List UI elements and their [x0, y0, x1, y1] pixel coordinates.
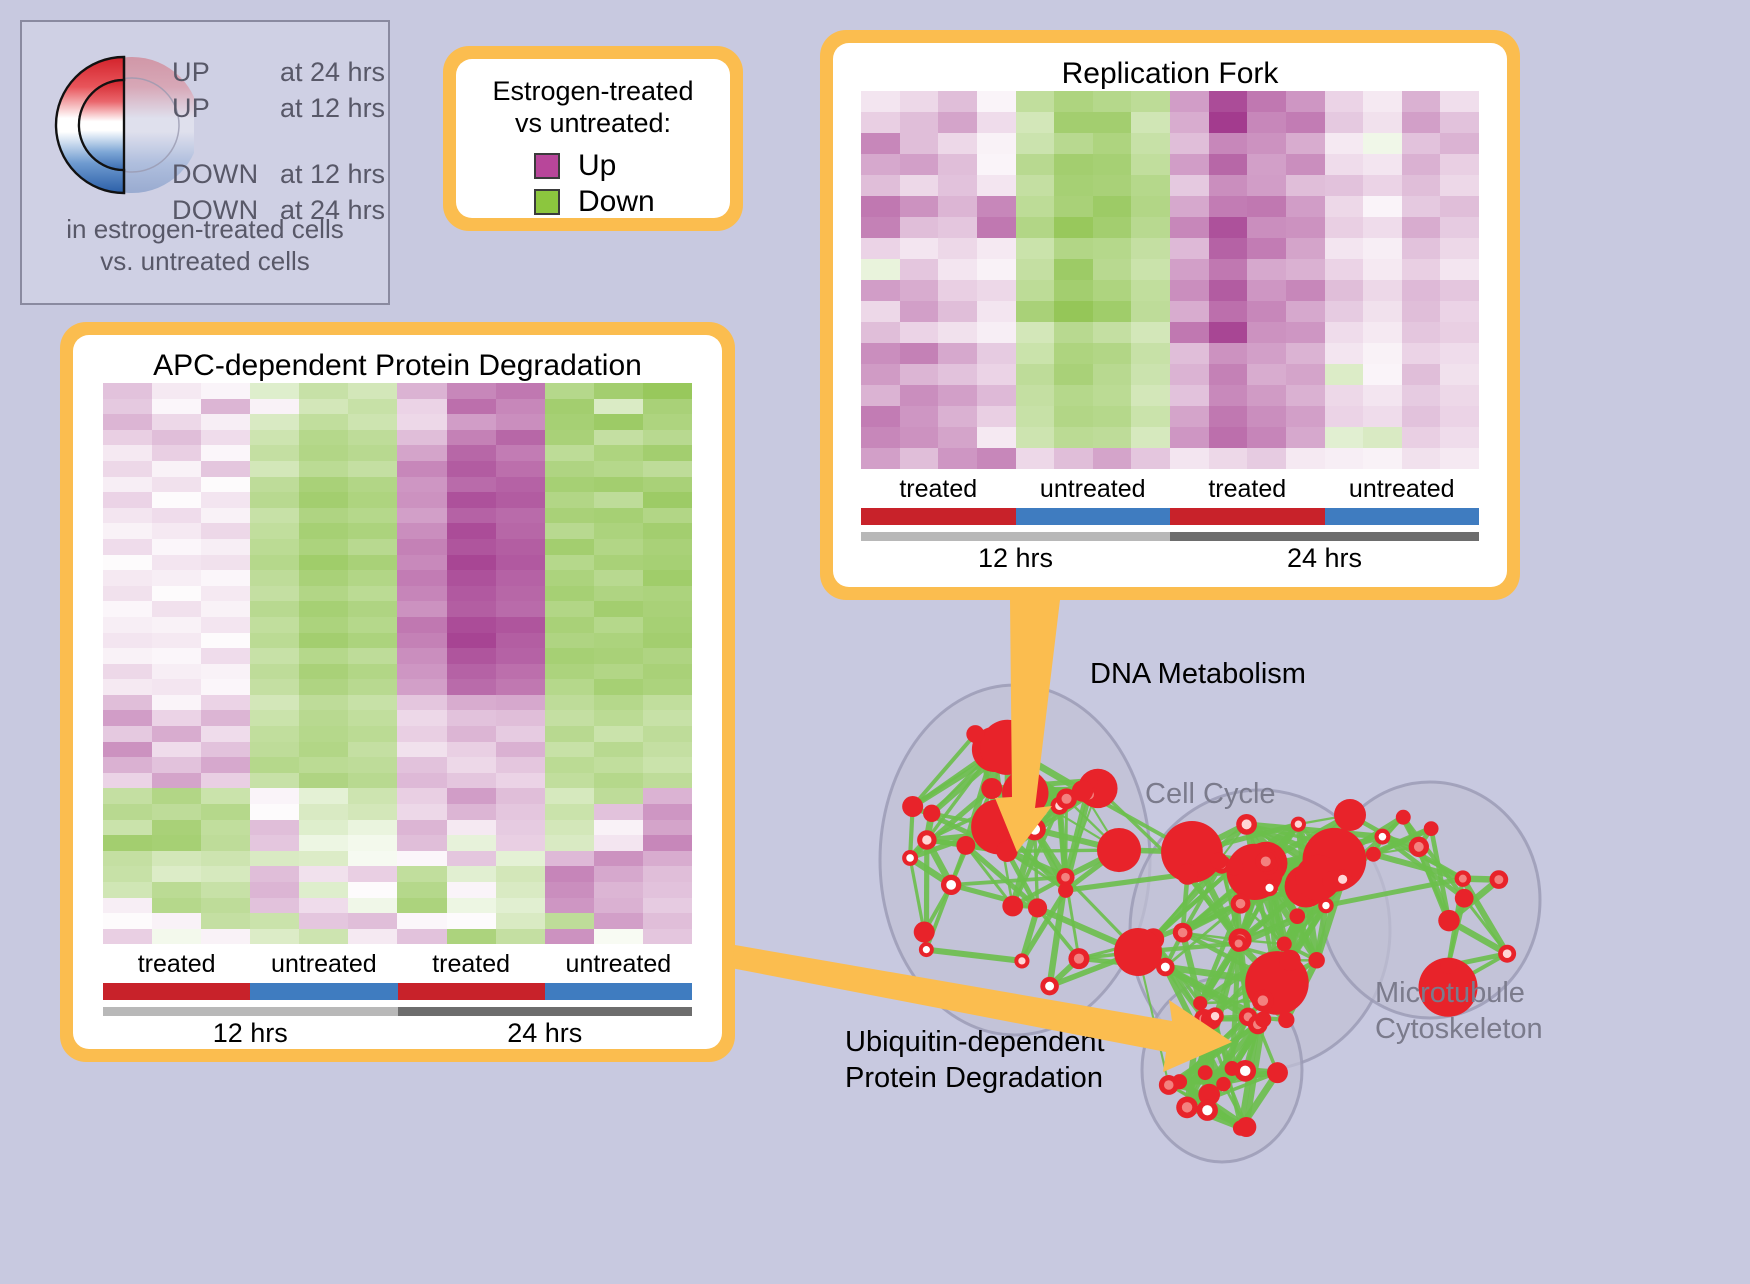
heatmap-cell	[1093, 406, 1132, 427]
heatmap-cell	[250, 726, 299, 742]
network-node-core	[1242, 819, 1252, 829]
heatmap-cell	[201, 586, 250, 602]
heatmap-cell	[545, 866, 594, 882]
apc-heatmap	[103, 383, 692, 944]
heatmap-cell	[1170, 238, 1209, 259]
heatmap-cell	[201, 664, 250, 680]
heatmap-cell	[1170, 196, 1209, 217]
heatmap-cell	[938, 238, 977, 259]
heatmap-cell	[1054, 217, 1093, 238]
network-node[interactable]	[1396, 810, 1411, 825]
heatmap-cell	[1363, 427, 1402, 448]
network-node-core	[1322, 902, 1329, 909]
network-node[interactable]	[923, 805, 940, 822]
network-node[interactable]	[1058, 883, 1073, 898]
heatmap-cell	[201, 414, 250, 430]
heatmap-cell	[496, 617, 545, 633]
network-node[interactable]	[996, 841, 1017, 862]
heatmap-cell	[643, 477, 692, 493]
network-node[interactable]	[1424, 821, 1439, 836]
heatmap-cell	[1440, 196, 1479, 217]
heatmap-row	[103, 773, 692, 789]
heatmap-cell	[1170, 175, 1209, 196]
heatmap-cell	[447, 539, 496, 555]
heatmap-cell	[103, 383, 152, 399]
heatmap-cell	[938, 259, 977, 280]
heatmap-cell	[1016, 301, 1055, 322]
heatmap-cell	[1286, 217, 1325, 238]
heatmap-cell	[1209, 364, 1248, 385]
heatmap-cell	[1286, 259, 1325, 280]
heatmap-row	[861, 91, 1479, 112]
network-node-core	[1240, 1066, 1250, 1076]
network-node[interactable]	[1002, 896, 1023, 917]
heatmap-row	[103, 851, 692, 867]
legend-row-up-24: UP at 24 hrs	[172, 54, 387, 90]
heatmap-cell	[1286, 385, 1325, 406]
network-node[interactable]	[914, 922, 935, 943]
heatmap-cell	[861, 238, 900, 259]
heatmap-cell	[938, 448, 977, 469]
heatmap-cell	[1402, 385, 1441, 406]
heatmap-cell	[977, 343, 1016, 364]
heatmap-cell	[447, 492, 496, 508]
heatmap-cell	[1440, 91, 1479, 112]
heatmap-cell	[250, 477, 299, 493]
heatmap-cell	[1209, 448, 1248, 469]
heatmap-cell	[496, 414, 545, 430]
heatmap-cell	[496, 882, 545, 898]
heatmap-cell	[977, 196, 1016, 217]
heatmap-cell	[250, 851, 299, 867]
heatmap-cell	[977, 406, 1016, 427]
network-node[interactable]	[1438, 910, 1460, 932]
heatmap-row	[861, 217, 1479, 238]
heatmap-cell	[103, 882, 152, 898]
network-node[interactable]	[1366, 847, 1381, 862]
heatmap-row	[861, 154, 1479, 175]
heatmap-cell	[201, 570, 250, 586]
network-node[interactable]	[1072, 780, 1093, 801]
heatmap-cell	[977, 133, 1016, 154]
heatmap-cell	[496, 555, 545, 571]
heatmap-cell	[1363, 448, 1402, 469]
heatmap-cell	[1131, 91, 1170, 112]
heatmap-cell	[250, 539, 299, 555]
network-node-core	[1266, 884, 1274, 892]
heatmap-cell	[348, 773, 397, 789]
heatmap-cell	[1170, 427, 1209, 448]
heatmap-cell	[447, 601, 496, 617]
network-node[interactable]	[1177, 864, 1198, 885]
heatmap-cell	[1247, 133, 1286, 154]
heatmap-cell	[1325, 385, 1364, 406]
heatmap-cell	[447, 866, 496, 882]
network-node[interactable]	[966, 725, 984, 743]
network-node[interactable]	[1193, 996, 1207, 1010]
heatmap-cell	[1131, 448, 1170, 469]
heatmap-cell	[348, 383, 397, 399]
heatmap-cell	[103, 804, 152, 820]
heatmap-cell	[594, 570, 643, 586]
time-label: 24 hrs	[1170, 543, 1479, 574]
heatmap-cell	[545, 648, 594, 664]
heatmap-cell	[299, 726, 348, 742]
heatmap-cell	[250, 866, 299, 882]
network-node[interactable]	[1455, 889, 1474, 908]
heatmap-cell	[348, 898, 397, 914]
heatmap-cell	[1093, 343, 1132, 364]
heatmap-cell	[1325, 280, 1364, 301]
heatmap-row	[103, 586, 692, 602]
heatmap-cell	[545, 835, 594, 851]
heatmap-cell	[152, 773, 201, 789]
network-node-core	[1261, 856, 1271, 866]
bar-untreated	[1016, 508, 1171, 525]
heatmap-cell	[1170, 364, 1209, 385]
heatmap-cell	[594, 445, 643, 461]
network-node-core	[1182, 1102, 1192, 1112]
heatmap-row	[861, 343, 1479, 364]
heatmap-cell	[299, 539, 348, 555]
heatmap-row	[861, 280, 1479, 301]
network-node[interactable]	[902, 796, 923, 817]
heatmap-cell	[250, 586, 299, 602]
heatmap-row	[861, 301, 1479, 322]
apc-annotations: treated untreated treated untreated	[103, 950, 692, 1049]
heatmap-cell	[250, 648, 299, 664]
heatmap-cell	[1247, 259, 1286, 280]
heatmap-cell	[397, 710, 446, 726]
heatmap-cell	[496, 570, 545, 586]
heatmap-cell	[348, 820, 397, 836]
heatmap-cell	[348, 617, 397, 633]
heatmap-cell	[1016, 385, 1055, 406]
network-node-core	[1029, 824, 1040, 835]
heatmap-cell	[1170, 217, 1209, 238]
heatmap-cell	[545, 929, 594, 945]
heatmap-cell	[1440, 154, 1479, 175]
heatmap-cell	[545, 414, 594, 430]
heatmap-cell	[1170, 406, 1209, 427]
heatmap-cell	[594, 477, 643, 493]
heatmap-cell	[594, 539, 643, 555]
heatmap-cell	[1325, 448, 1364, 469]
heatmap-cell	[545, 633, 594, 649]
heatmap-cell	[594, 913, 643, 929]
heatmap-cell	[643, 757, 692, 773]
heatmap-cell	[861, 427, 900, 448]
heatmap-cell	[977, 364, 1016, 385]
heatmap-cell	[152, 617, 201, 633]
heatmap-cell	[348, 710, 397, 726]
heatmap-cell	[1131, 196, 1170, 217]
heatmap-cell	[348, 555, 397, 571]
network-node[interactable]	[1308, 952, 1325, 969]
heatmap-cell	[299, 430, 348, 446]
heatmap-row	[103, 601, 692, 617]
heatmap-cell	[1440, 280, 1479, 301]
bar-treated	[1170, 508, 1325, 525]
heatmap-cell	[152, 523, 201, 539]
heatmap-cell	[250, 773, 299, 789]
heatmap-row	[861, 112, 1479, 133]
heatmap-row	[103, 866, 692, 882]
heatmap-cell	[643, 710, 692, 726]
heatmap-cell	[1016, 406, 1055, 427]
heatmap-cell	[545, 508, 594, 524]
heatmap-cell	[545, 617, 594, 633]
heatmap-cell	[1209, 175, 1248, 196]
network-node[interactable]	[1440, 958, 1456, 974]
heatmap-cell	[348, 742, 397, 758]
heatmap-cell	[594, 617, 643, 633]
heatmap-cell	[496, 788, 545, 804]
heatmap-cell	[1016, 322, 1055, 343]
heatmap-cell	[1093, 154, 1132, 175]
network-node[interactable]	[981, 778, 1002, 799]
colorwheel-legend-rows: UP at 24 hrs UP at 12 hrs DOWN at 12 hrs…	[172, 54, 387, 228]
heatmap-cell	[299, 586, 348, 602]
heatmap-cell	[643, 383, 692, 399]
heatmap-row	[103, 539, 692, 555]
heatmap-cell	[545, 555, 594, 571]
heatmap-cell	[1325, 259, 1364, 280]
apc-panel-title: APC-dependent Protein Degradation	[73, 335, 722, 383]
heatmap-cell	[594, 742, 643, 758]
heatmap-cell	[643, 664, 692, 680]
heatmap-cell	[1054, 427, 1093, 448]
heatmap-cell	[397, 508, 446, 524]
heatmap-row	[103, 617, 692, 633]
network-node[interactable]	[980, 720, 1035, 775]
legend-item-up: Up	[534, 148, 730, 184]
heatmap-cell	[594, 383, 643, 399]
network-node[interactable]	[1236, 1117, 1256, 1137]
heatmap-cell	[397, 601, 446, 617]
heatmap-cell	[397, 929, 446, 945]
heatmap-cell	[447, 383, 496, 399]
heatmap-cell	[643, 586, 692, 602]
heatmap-cell	[545, 445, 594, 461]
heatmap-cell	[447, 679, 496, 695]
heatmap-cell	[1131, 427, 1170, 448]
heatmap-cell	[643, 648, 692, 664]
heatmap-cell	[397, 383, 446, 399]
heatmap-cell	[1131, 406, 1170, 427]
updown-legend-panel: Estrogen-treated vs untreated: Up Down	[443, 46, 743, 231]
heatmap-cell	[643, 882, 692, 898]
heatmap-cell	[103, 461, 152, 477]
heatmap-cell	[397, 445, 446, 461]
heatmap-cell	[397, 726, 446, 742]
heatmap-cell	[545, 710, 594, 726]
heatmap-cell	[103, 757, 152, 773]
heatmap-cell	[496, 913, 545, 929]
network-node[interactable]	[1278, 1012, 1294, 1028]
heatmap-cell	[900, 364, 939, 385]
heatmap-cell	[103, 866, 152, 882]
heatmap-cell	[397, 399, 446, 415]
heatmap-cell	[152, 710, 201, 726]
heatmap-row	[103, 492, 692, 508]
heatmap-cell	[201, 508, 250, 524]
heatmap-cell	[643, 929, 692, 945]
legend-row-up-12: UP at 12 hrs	[172, 90, 387, 126]
heatmap-cell	[938, 343, 977, 364]
heatmap-cell	[643, 788, 692, 804]
heatmap-row	[103, 695, 692, 711]
heatmap-cell	[397, 570, 446, 586]
heatmap-cell	[201, 866, 250, 882]
heatmap-cell	[1402, 280, 1441, 301]
heatmap-cell	[1016, 91, 1055, 112]
heatmap-cell	[152, 929, 201, 945]
heatmap-cell	[103, 508, 152, 524]
heatmap-cell	[250, 742, 299, 758]
heatmap-cell	[447, 617, 496, 633]
cluster-label-microtubule-cytoskeleton: Microtubule Cytoskeleton	[1375, 975, 1543, 1048]
heatmap-cell	[1016, 427, 1055, 448]
heatmap-row	[103, 508, 692, 524]
heatmap-cell	[594, 430, 643, 446]
caption-line-2: vs. untreated cells	[22, 246, 388, 278]
network-node[interactable]	[1028, 898, 1047, 917]
bar-12hrs	[861, 532, 1170, 541]
heatmap-cell	[1054, 448, 1093, 469]
heatmap-cell	[938, 427, 977, 448]
network-node-core	[906, 854, 914, 862]
heatmap-cell	[397, 648, 446, 664]
network-node[interactable]	[1279, 950, 1300, 971]
bar-treated	[103, 983, 250, 1000]
heatmap-cell	[643, 851, 692, 867]
heatmap-cell	[861, 301, 900, 322]
heatmap-cell	[1363, 385, 1402, 406]
heatmap-cell	[1209, 280, 1248, 301]
heatmap-cell	[1325, 133, 1364, 154]
heatmap-row	[103, 399, 692, 415]
heatmap-cell	[348, 695, 397, 711]
heatmap-cell	[103, 664, 152, 680]
heatmap-cell	[594, 882, 643, 898]
heatmap-cell	[1247, 385, 1286, 406]
heatmap-cell	[103, 492, 152, 508]
heatmap-cell	[1054, 280, 1093, 301]
heatmap-cell	[103, 399, 152, 415]
heatmap-cell	[643, 555, 692, 571]
network-node[interactable]	[1255, 1011, 1271, 1027]
heatmap-cell	[1363, 280, 1402, 301]
heatmap-cell	[1247, 343, 1286, 364]
network-node[interactable]	[1097, 828, 1141, 872]
heatmap-row	[103, 633, 692, 649]
heatmap-cell	[1402, 112, 1441, 133]
heatmap-cell	[250, 679, 299, 695]
heatmap-cell	[496, 586, 545, 602]
heatmap-cell	[643, 773, 692, 789]
network-node[interactable]	[956, 836, 975, 855]
heatmap-cell	[1286, 406, 1325, 427]
heatmap-cell	[447, 929, 496, 945]
heatmap-cell	[938, 154, 977, 175]
legend-label-down: Down	[578, 187, 655, 217]
network-node[interactable]	[1198, 1065, 1213, 1080]
heatmap-cell	[1054, 91, 1093, 112]
heatmap-cell	[643, 430, 692, 446]
heatmap-cell	[348, 508, 397, 524]
network-node[interactable]	[1114, 928, 1162, 976]
heatmap-cell	[1209, 238, 1248, 259]
heatmap-cell	[1247, 112, 1286, 133]
heatmap-cell	[496, 633, 545, 649]
heatmap-cell	[1054, 238, 1093, 259]
heatmap-cell	[1016, 112, 1055, 133]
heatmap-cell	[103, 445, 152, 461]
heatmap-cell	[299, 757, 348, 773]
network-node[interactable]	[1211, 852, 1228, 869]
heatmap-cell	[397, 804, 446, 820]
network-node[interactable]	[1226, 858, 1243, 875]
heatmap-row	[861, 322, 1479, 343]
heatmap-cell	[594, 851, 643, 867]
heatmap-cell	[201, 648, 250, 664]
heatmap-cell	[1093, 301, 1132, 322]
heatmap-cell	[900, 217, 939, 238]
heatmap-cell	[545, 882, 594, 898]
network-node-core	[922, 835, 931, 844]
group-label: treated	[398, 950, 545, 979]
heatmap-cell	[900, 343, 939, 364]
network-node[interactable]	[1289, 908, 1305, 924]
heatmap-cell	[545, 430, 594, 446]
heatmap-cell	[299, 617, 348, 633]
heatmap-cell	[594, 586, 643, 602]
heatmap-cell	[397, 461, 446, 477]
heatmap-cell	[1093, 238, 1132, 259]
heatmap-cell	[900, 385, 939, 406]
heatmap-cell	[594, 695, 643, 711]
network-node[interactable]	[1267, 1062, 1288, 1083]
heatmap-cell	[1209, 406, 1248, 427]
heatmap-cell	[201, 757, 250, 773]
heatmap-cell	[103, 898, 152, 914]
heatmap-cell	[201, 804, 250, 820]
heatmap-cell	[447, 633, 496, 649]
heatmap-cell	[1016, 217, 1055, 238]
legend-label-up: Up	[578, 151, 616, 181]
heatmap-cell	[250, 601, 299, 617]
heatmap-cell	[397, 742, 446, 758]
heatmap-cell	[299, 820, 348, 836]
heatmap-row	[103, 804, 692, 820]
heatmap-cell	[1093, 196, 1132, 217]
heatmap-cell	[1093, 112, 1132, 133]
network-node[interactable]	[1334, 799, 1366, 831]
heatmap-cell	[299, 866, 348, 882]
heatmap-cell	[447, 570, 496, 586]
legend-keyword: DOWN	[172, 159, 280, 190]
heatmap-cell	[977, 259, 1016, 280]
heatmap-cell	[594, 492, 643, 508]
heatmap-cell	[1131, 133, 1170, 154]
heatmap-cell	[1131, 238, 1170, 259]
heatmap-cell	[545, 913, 594, 929]
heatmap-row	[103, 555, 692, 571]
heatmap-cell	[103, 726, 152, 742]
network-node[interactable]	[1277, 936, 1292, 951]
heatmap-cell	[447, 757, 496, 773]
